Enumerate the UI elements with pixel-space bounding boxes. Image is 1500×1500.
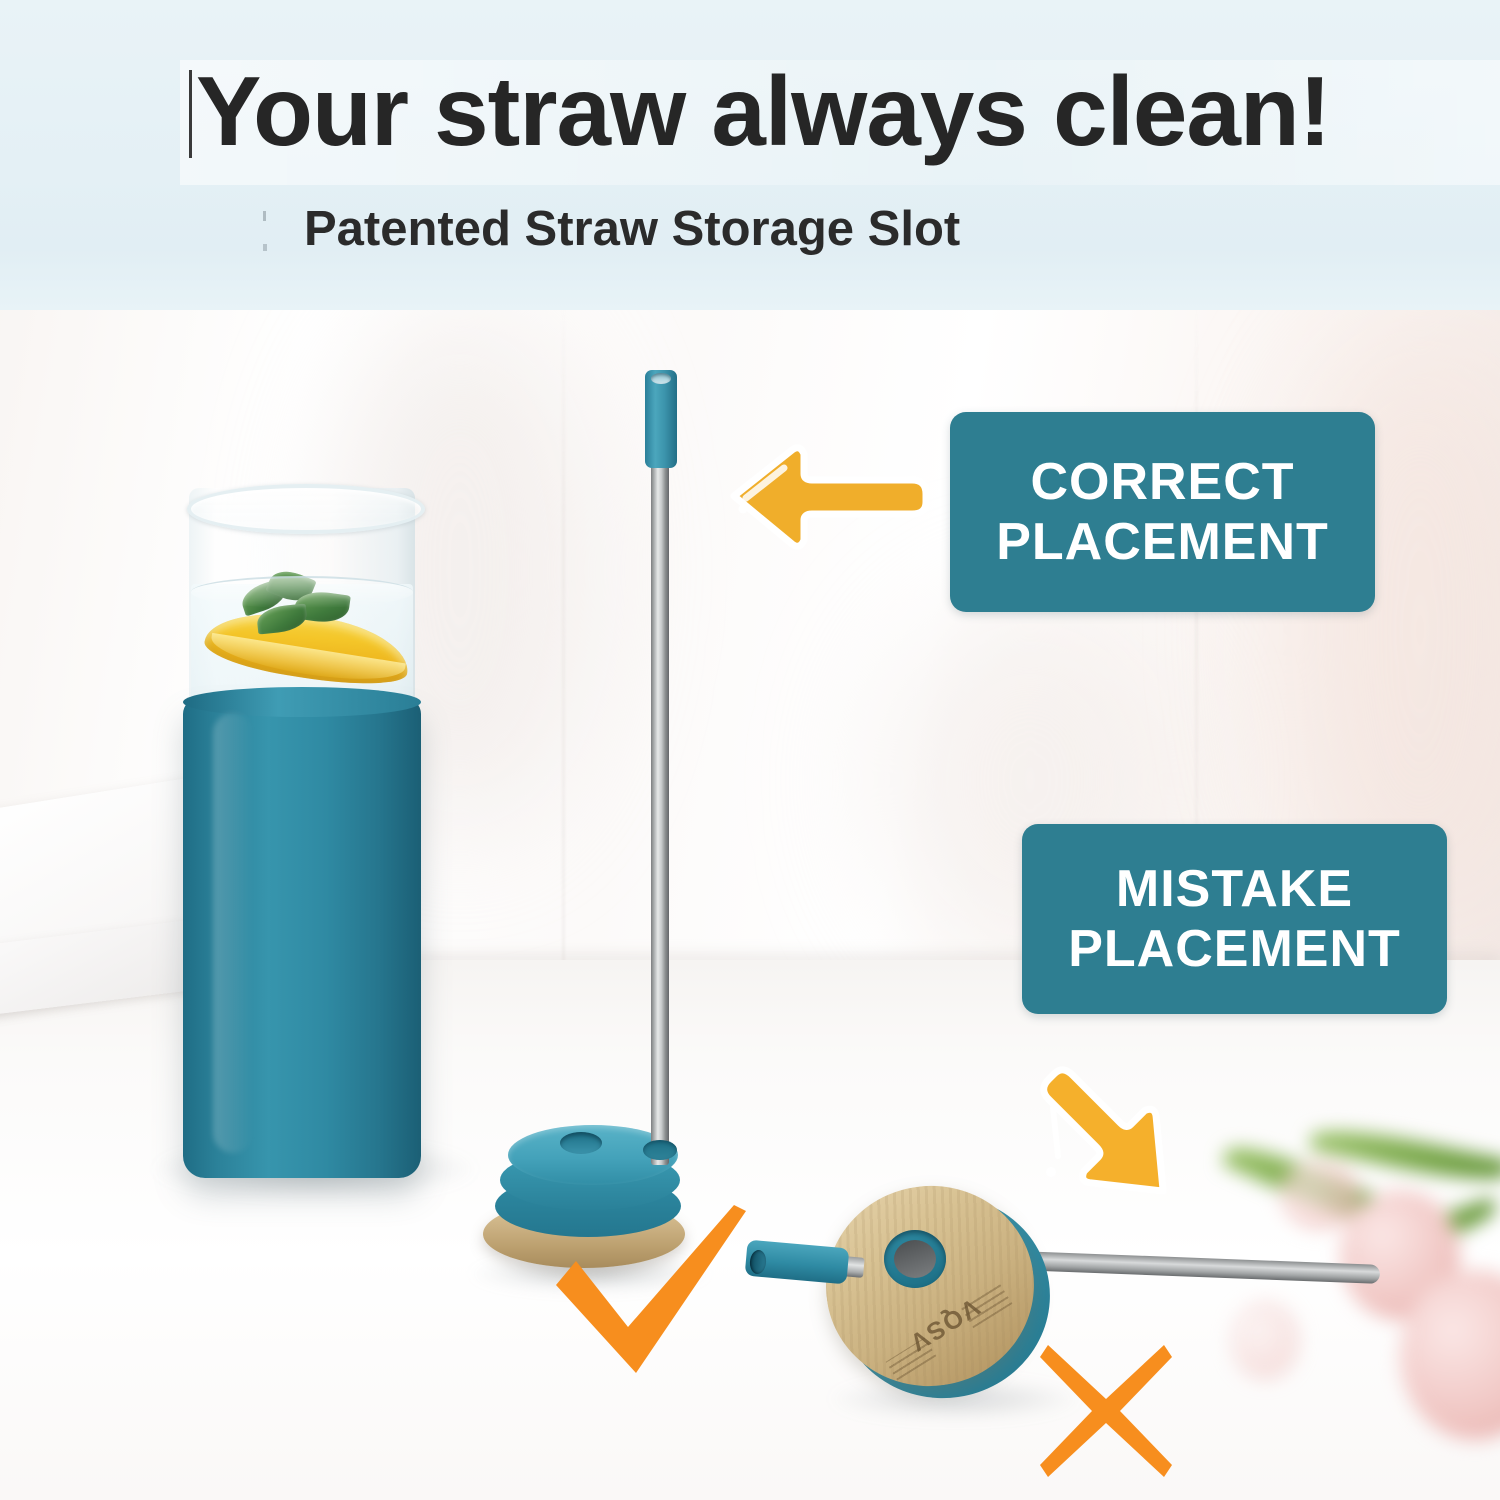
straw-in-hole	[894, 1240, 936, 1278]
plant-bloom	[1280, 1160, 1360, 1230]
title-caret	[189, 70, 192, 158]
status-badge-correct-placement[interactable]: CORRECT PLACEMENT	[950, 412, 1375, 612]
status-badge-mistake-placement[interactable]: MISTAKE PLACEMENT	[1022, 824, 1447, 1014]
subtitle-tick	[263, 211, 266, 221]
straw-silicone-tip	[645, 370, 677, 468]
glass-rim	[187, 484, 425, 534]
silicone-sleeve-top	[183, 687, 421, 717]
arrow-left-icon	[726, 440, 932, 552]
page-subtitle: Patented Straw Storage Slot	[304, 205, 1404, 254]
water-surface-line	[191, 576, 413, 608]
straw-tip-opening	[651, 373, 671, 384]
glass-water-bottle	[183, 488, 421, 1178]
subtitle-tick-2	[263, 244, 267, 251]
product-infographic: VQSV CORRECT	[0, 0, 1500, 1500]
plant-bloom	[1230, 1300, 1300, 1380]
blurred-plant	[1200, 1150, 1500, 1500]
arrow-down-right-icon	[1020, 1048, 1196, 1224]
checkmark-icon	[556, 1205, 746, 1373]
straw-storage-slot	[643, 1140, 677, 1160]
page-title: Your straw always clean!	[196, 62, 1496, 160]
header-band: Your straw always clean! Patented Straw …	[0, 0, 1500, 310]
badge-line-1: CORRECT	[1030, 452, 1294, 512]
cross-icon	[1040, 1345, 1172, 1477]
badge-line-2: PLACEMENT	[996, 512, 1329, 572]
badge-line-1: MISTAKE	[1116, 859, 1353, 919]
lid-vent-hole	[560, 1132, 602, 1154]
straw-upright-in-slot	[651, 455, 669, 1165]
badge-line-2: PLACEMENT	[1068, 919, 1401, 979]
sleeve-highlight	[213, 713, 253, 1153]
